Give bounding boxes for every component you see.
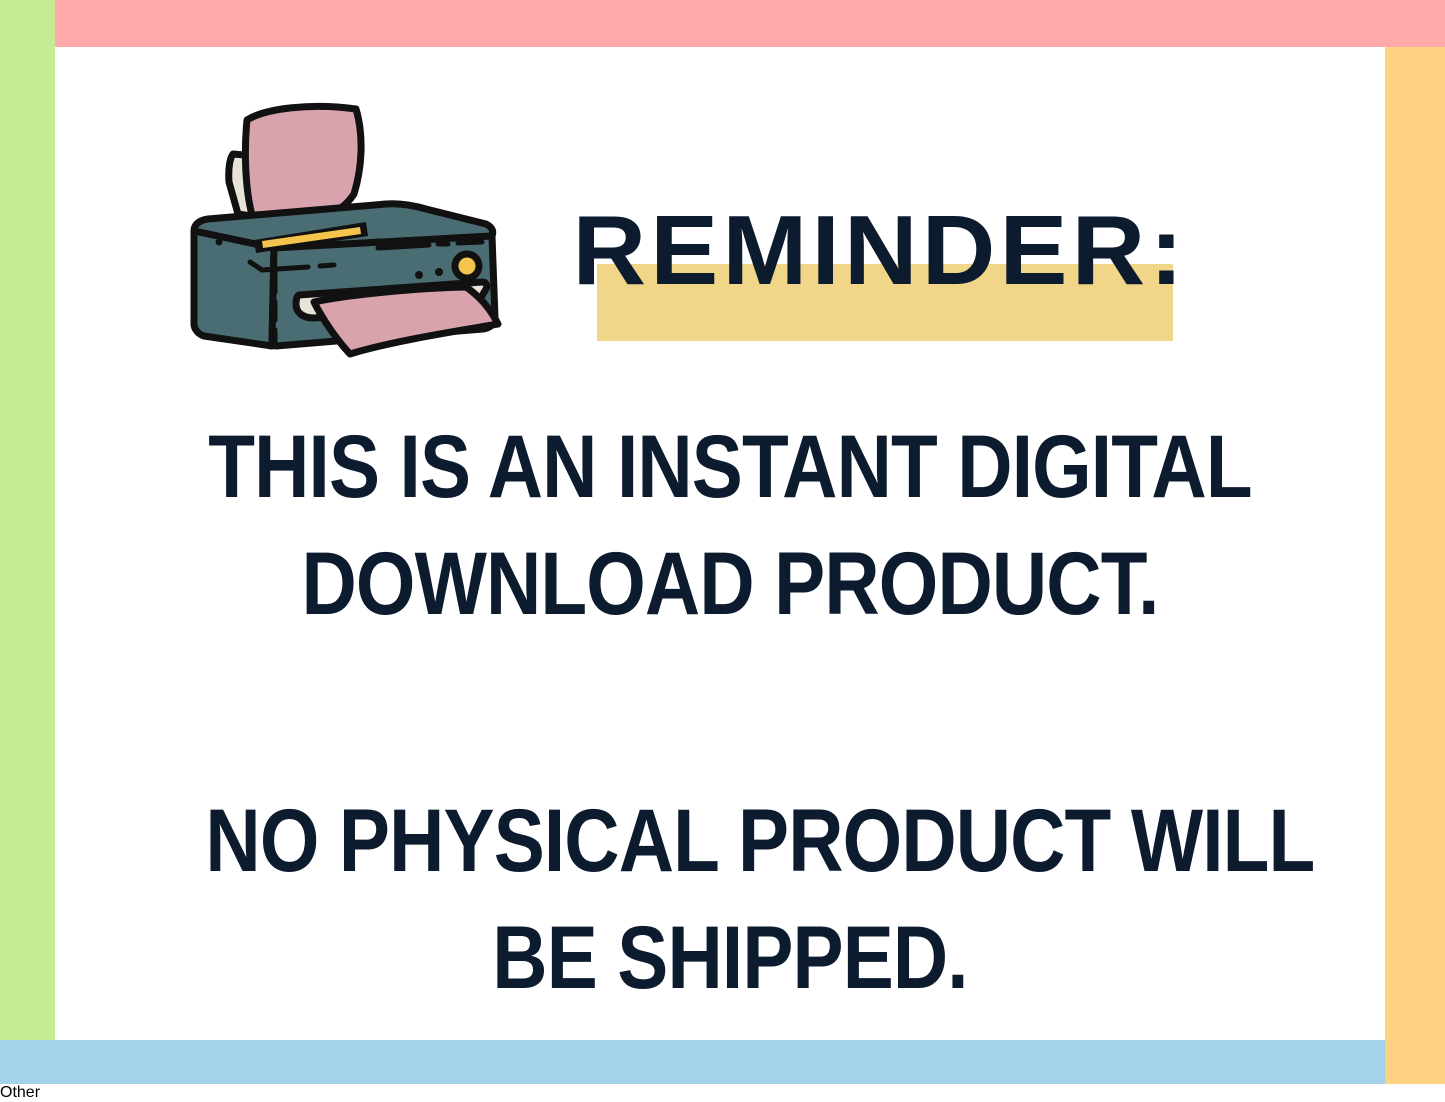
printer-dot-left: [216, 239, 223, 246]
printer-top-sheet: [245, 106, 361, 215]
paragraph-spacer: [120, 642, 1340, 782]
copy-line: BE SHIPPED.: [205, 899, 1254, 1016]
printer-output-sheet: [314, 287, 498, 354]
printer-led-dot-1: [415, 271, 423, 279]
decorative-strip-bottom: [0, 1040, 1385, 1084]
printer-detail-dash-c: [458, 242, 482, 243]
decorative-strip-right: [1385, 47, 1445, 1084]
reminder-graphic-canvas: REMINDER: THIS IS AN INSTANT DIGITAL DOW…: [0, 0, 1445, 1084]
printer-seam-b: [320, 265, 334, 266]
decorative-strip-top: [55, 0, 1445, 47]
copy-line: DOWNLOAD PRODUCT.: [205, 525, 1254, 642]
copy-line: THIS IS AN INSTANT DIGITAL: [205, 408, 1254, 525]
body-copy: THIS IS AN INSTANT DIGITAL DOWNLOAD PROD…: [120, 408, 1340, 1016]
paragraph-instant-download: THIS IS AN INSTANT DIGITAL DOWNLOAD PROD…: [120, 408, 1340, 642]
printer-led-dot-2: [435, 268, 443, 276]
printer-icon: [186, 96, 536, 381]
printer-detail-dash-a: [378, 245, 429, 248]
page-title: REMINDER:: [547, 196, 1213, 304]
heading-block: REMINDER:: [560, 196, 1200, 356]
decorative-strip-left: [0, 0, 55, 1045]
paragraph-no-physical-product: NO PHYSICAL PRODUCT WILL BE SHIPPED.: [120, 782, 1340, 1016]
printer-power-button: [455, 254, 479, 278]
copy-line: NO PHYSICAL PRODUCT WILL: [205, 782, 1254, 899]
